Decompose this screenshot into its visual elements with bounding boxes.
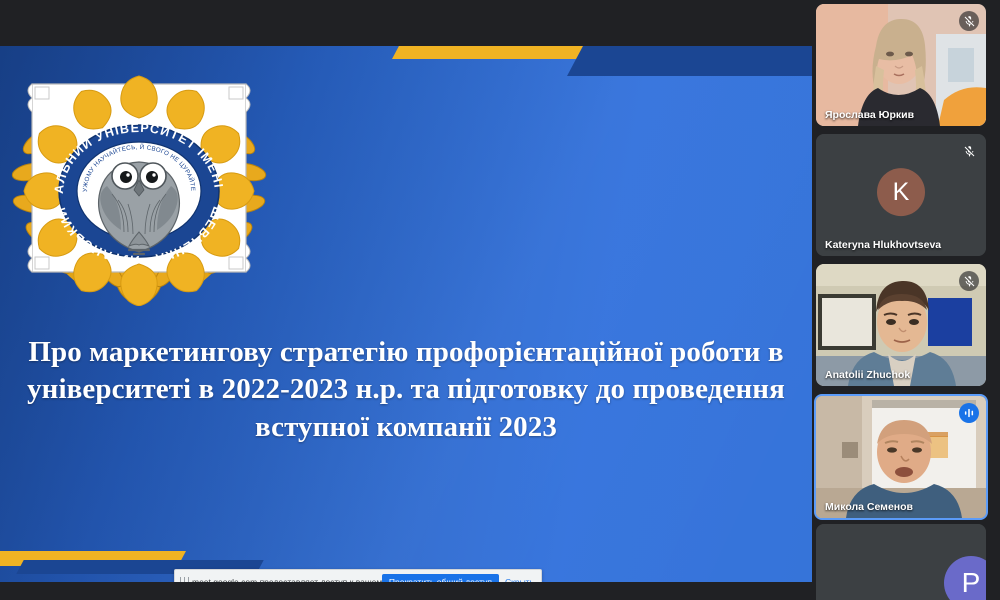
share-notification-message: meet.google.com предоставляет доступ к в… [192,578,382,582]
participant-name: Kateryna Hlukhovtseva [825,239,941,251]
shared-screen-stage[interactable]: НАЦІОНАЛЬНИЙ УНІВЕРСИТЕТ ІМЕНІ ТАРАСА ШЕ… [0,0,812,600]
audio-level-icon [959,403,979,423]
stop-sharing-button[interactable]: Прекратить общий доступ [382,574,499,583]
participant-name: Микола Семенов [825,501,913,513]
participant-filmstrip: Ярослава Юркив K Kateryna Hlukhovtseva [812,0,1000,600]
drag-handle-icon[interactable] [180,577,189,583]
participant-tile[interactable]: Anatolii Zhuchok [816,264,986,386]
university-emblem-icon: НАЦІОНАЛЬНИЙ УНІВЕРСИТЕТ ІМЕНІ ТАРАСА ШЕ… [8,54,270,306]
participant-tile[interactable]: Ярослава Юркив [816,4,986,126]
mic-off-icon [959,11,979,31]
slide-title: Про маркетингову стратегію профорієнтаці… [20,334,792,446]
participant-tile[interactable]: P [816,524,986,600]
decorative-bar-navy-top [567,46,812,76]
participant-name: Ярослава Юркив [825,109,914,121]
participant-tile[interactable]: K Kateryna Hlukhovtseva [816,134,986,256]
screen-share-notification-bar[interactable]: meet.google.com предоставляет доступ к в… [174,569,542,582]
avatar: K [877,168,925,216]
presentation-slide: НАЦІОНАЛЬНИЙ УНІВЕРСИТЕТ ІМЕНІ ТАРАСА ШЕ… [0,46,812,582]
mic-off-icon [959,141,979,161]
mic-off-icon [959,271,979,291]
google-meet-window: НАЦІОНАЛЬНИЙ УНІВЕРСИТЕТ ІМЕНІ ТАРАСА ШЕ… [0,0,1000,600]
participant-tile-active-speaker[interactable]: Микола Семенов [814,394,988,520]
hide-notification-link[interactable]: Скрыть [505,577,534,582]
participant-name: Anatolii Zhuchok [825,369,910,381]
